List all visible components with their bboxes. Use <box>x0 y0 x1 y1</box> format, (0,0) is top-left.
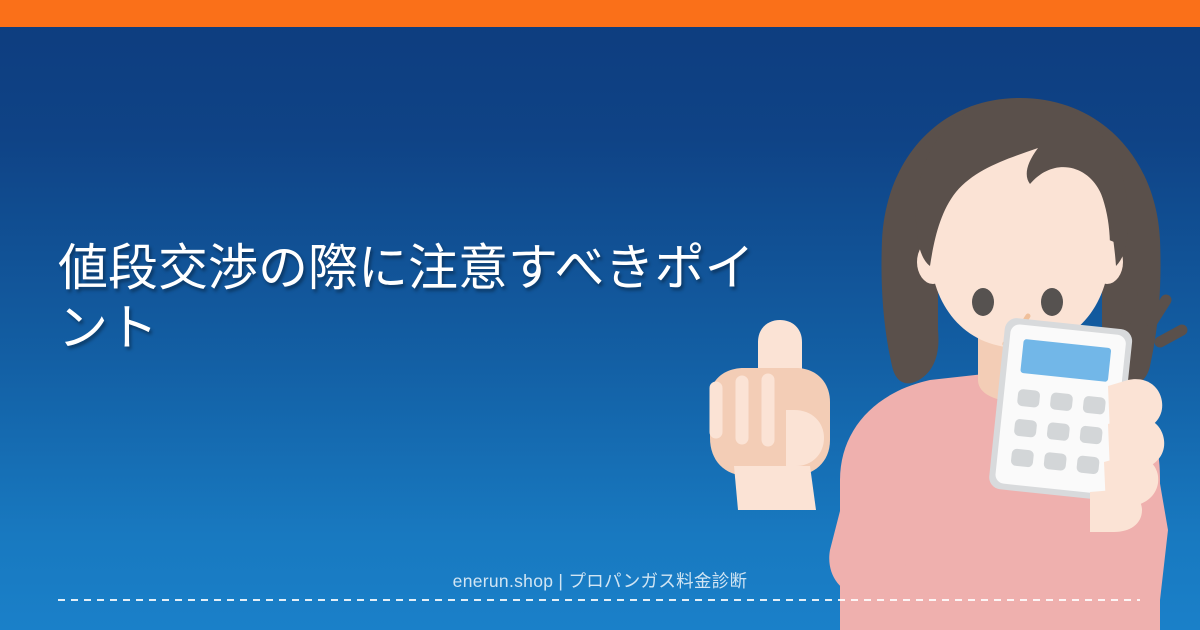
left-wrist <box>734 466 816 510</box>
og-card: 値段交渉の際に注意すべきポイント enerun.shop | プロパンガス料金診… <box>0 0 1200 630</box>
eye-left <box>972 288 994 316</box>
footer-site-label: enerun.shop | プロパンガス料金診断 <box>0 570 1200 592</box>
footer-divider <box>58 599 1140 601</box>
eye-right <box>1041 288 1063 316</box>
page-title: 値段交渉の際に注意すべきポイント <box>58 238 758 358</box>
top-accent-bar <box>0 0 1200 27</box>
finger-r4 <box>1090 490 1142 532</box>
illustration-woman-pointing-calculator <box>690 80 1190 630</box>
emphasis-mark-3 <box>1160 330 1182 342</box>
calculator-keys <box>1011 389 1107 475</box>
emphasis-mark-1 <box>1126 294 1132 320</box>
